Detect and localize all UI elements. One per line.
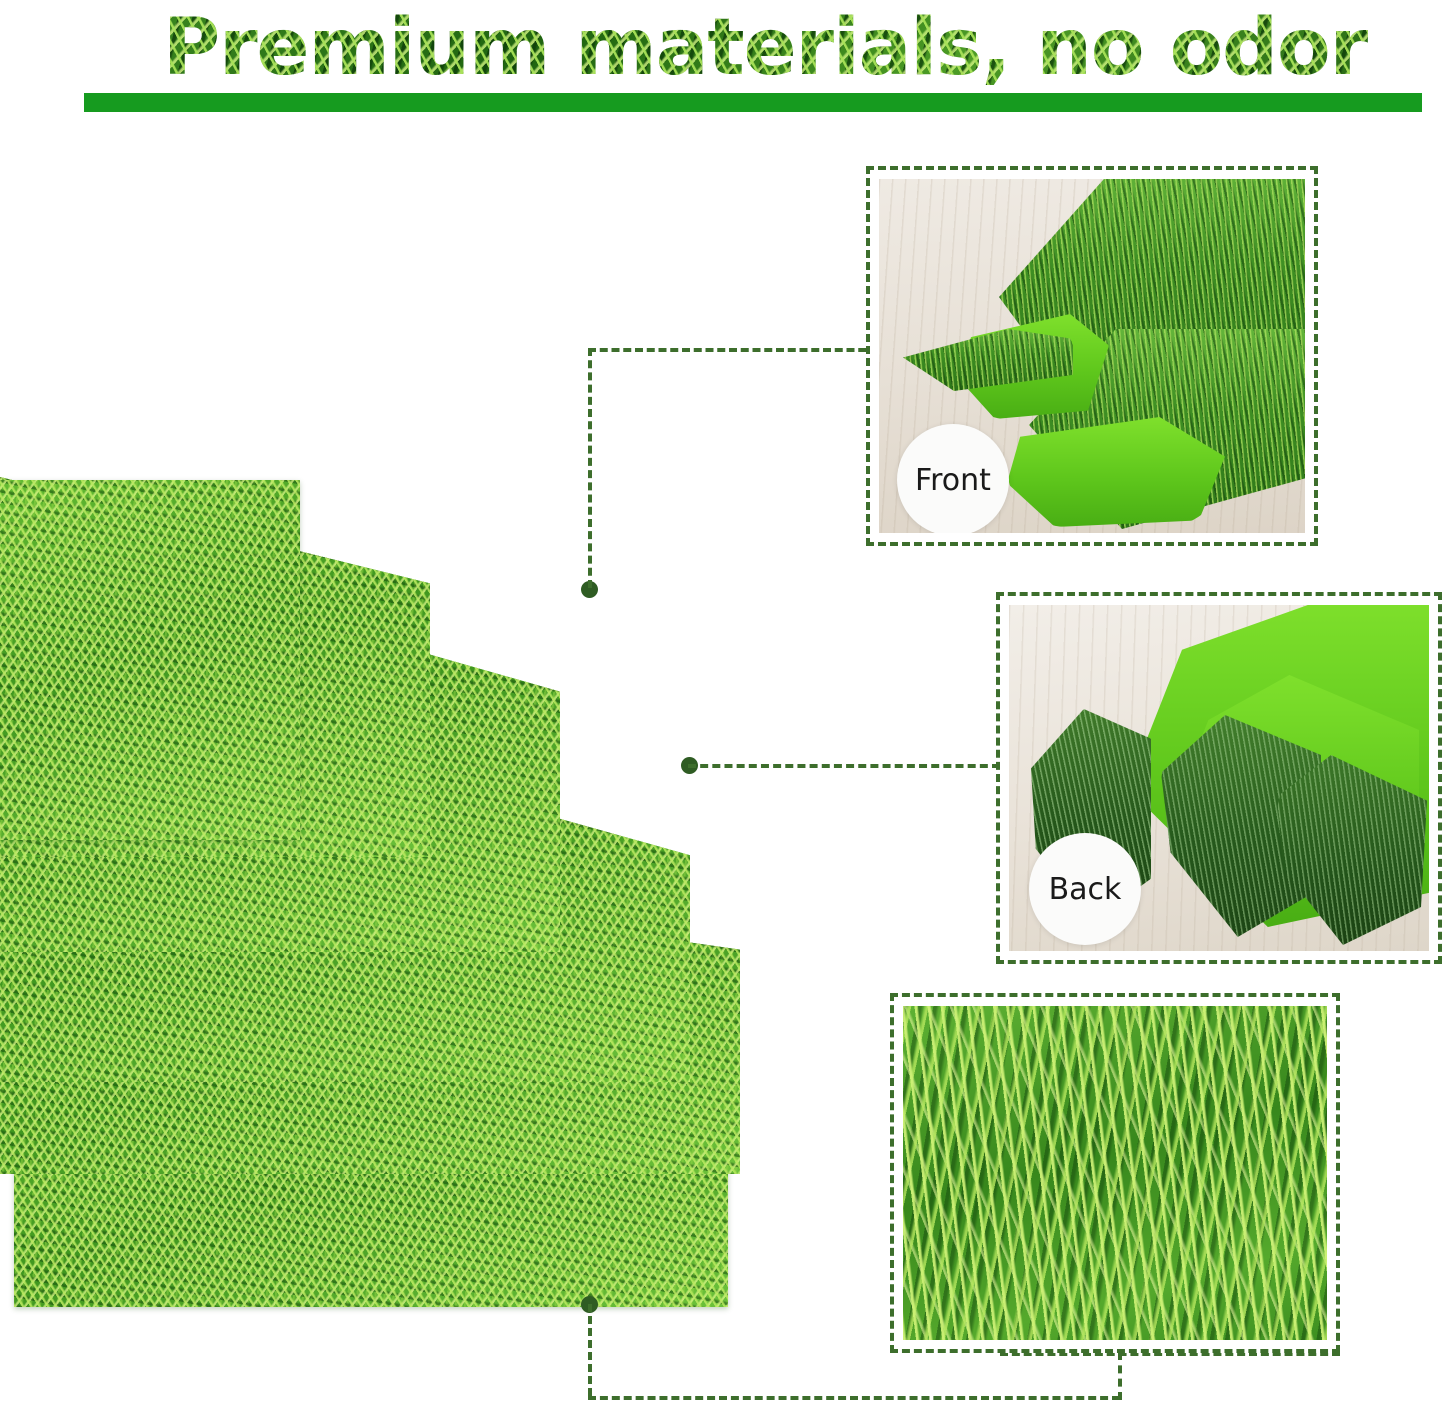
connector-closeup-vertical [588, 1304, 592, 1396]
connector-front-vertical [588, 348, 592, 588]
turf-front-rolled-photo: Front [879, 179, 1305, 533]
badge-back-label: Back [1049, 872, 1122, 907]
callout-panel-front[interactable]: Front [866, 166, 1318, 546]
grass-mat-stack [0, 232, 760, 1307]
badge-front: Front [897, 424, 1009, 533]
title-underline-bar [84, 93, 1422, 112]
callout-panel-closeup[interactable] [890, 993, 1340, 1353]
callout-panel-back[interactable]: Back [996, 592, 1442, 964]
grass-mat-tile [0, 480, 300, 840]
turf-back-backing-photo: Back [1009, 605, 1429, 951]
connector-closeup-horizontal [588, 1396, 1120, 1400]
badge-back: Back [1029, 833, 1141, 945]
badge-front-label: Front [915, 463, 991, 498]
connector-back-horizontal [688, 764, 1000, 768]
connector-closeup-riser [1118, 1352, 1122, 1400]
page-title: Premium materials, no odor [95, 2, 1435, 94]
grass-blade-closeup-photo [903, 1006, 1327, 1340]
connector-front-horizontal [588, 348, 878, 352]
header-banner: Premium materials, no odor [0, 0, 1445, 120]
